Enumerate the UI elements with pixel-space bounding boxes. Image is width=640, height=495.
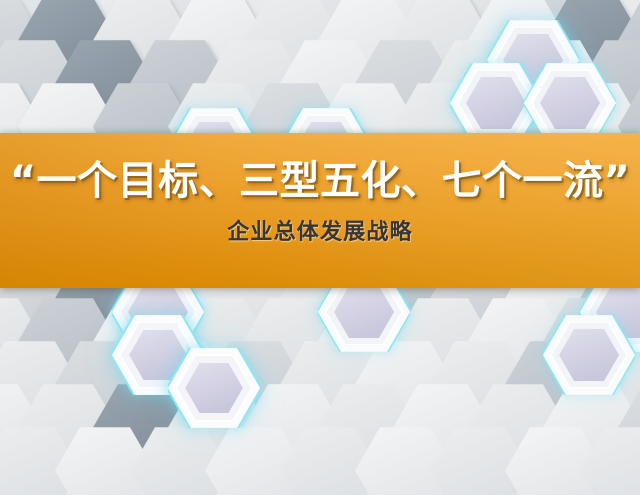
- slide-title: “一个目标、三型五化、七个一流”: [10, 160, 631, 202]
- presentation-slide: “一个目标、三型五化、七个一流” 企业总体发展战略: [0, 0, 640, 495]
- title-banner: “一个目标、三型五化、七个一流” 企业总体发展战略: [0, 133, 640, 288]
- slide-subtitle: 企业总体发展战略: [227, 214, 413, 246]
